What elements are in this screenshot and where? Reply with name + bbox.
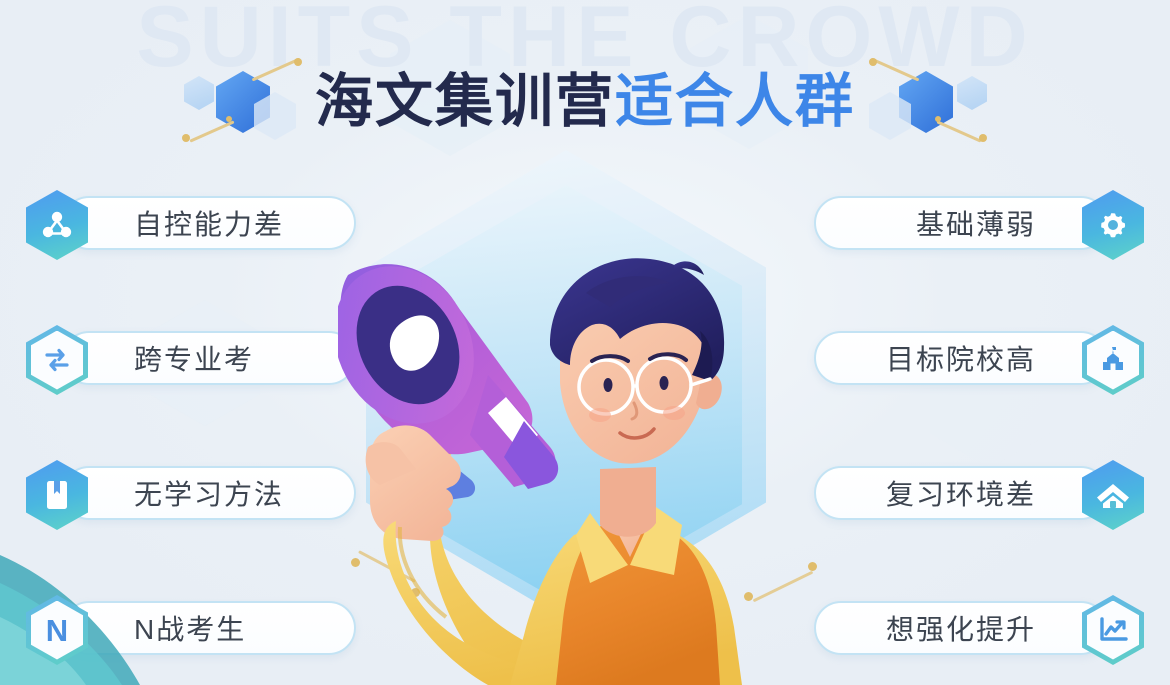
hex-cluster-left-icon — [182, 52, 297, 152]
feature-label: 跨专业考 — [134, 338, 254, 378]
feature-label: 自控能力差 — [134, 203, 284, 243]
feature-item-high-target-school[interactable]: 目标院校高 — [814, 325, 1144, 391]
feature-label: 复习环境差 — [886, 473, 1036, 513]
hex-cluster-right-icon — [873, 52, 988, 152]
feature-label: 目标院校高 — [886, 338, 1036, 378]
feature-pill[interactable]: 目标院校高 — [814, 331, 1108, 385]
title-accent: 适合人群 — [615, 69, 855, 134]
feature-pill[interactable]: 跨专业考 — [62, 331, 356, 385]
feature-label: 基础薄弱 — [916, 203, 1036, 243]
feature-pill[interactable]: 无学习方法 — [62, 466, 356, 520]
title-primary: 海文集训营 — [315, 69, 615, 134]
feature-pill[interactable]: 自控能力差 — [62, 196, 356, 250]
feature-item-no-method[interactable]: 无学习方法 — [26, 460, 356, 526]
banner-stage: SUITS THE CROWD 海文集训营适合人群 — [0, 0, 1170, 685]
page-title: 海文集训营适合人群 — [0, 52, 1170, 152]
feature-label: 想强化提升 — [886, 608, 1036, 648]
feature-item-cross-major[interactable]: 跨专业考 — [26, 325, 356, 391]
title-wrapper: 海文集训营适合人群 — [315, 73, 855, 131]
feature-item-poor-environment[interactable]: 复习环境差 — [814, 460, 1144, 526]
feature-item-weak-foundation[interactable]: 基础薄弱 — [814, 190, 1144, 256]
letter-n-glyph: N — [46, 615, 68, 646]
right-feature-column: 基础薄弱 目标院校高 — [814, 190, 1144, 661]
feature-pill[interactable]: 想强化提升 — [814, 601, 1108, 655]
feature-item-self-control[interactable]: 自控能力差 — [26, 190, 356, 256]
student-with-megaphone-illustration — [338, 235, 798, 685]
feature-pill[interactable]: 基础薄弱 — [814, 196, 1108, 250]
feature-item-want-improvement[interactable]: 想强化提升 — [814, 595, 1144, 661]
feature-label: 无学习方法 — [134, 473, 284, 513]
feature-pill[interactable]: 复习环境差 — [814, 466, 1108, 520]
